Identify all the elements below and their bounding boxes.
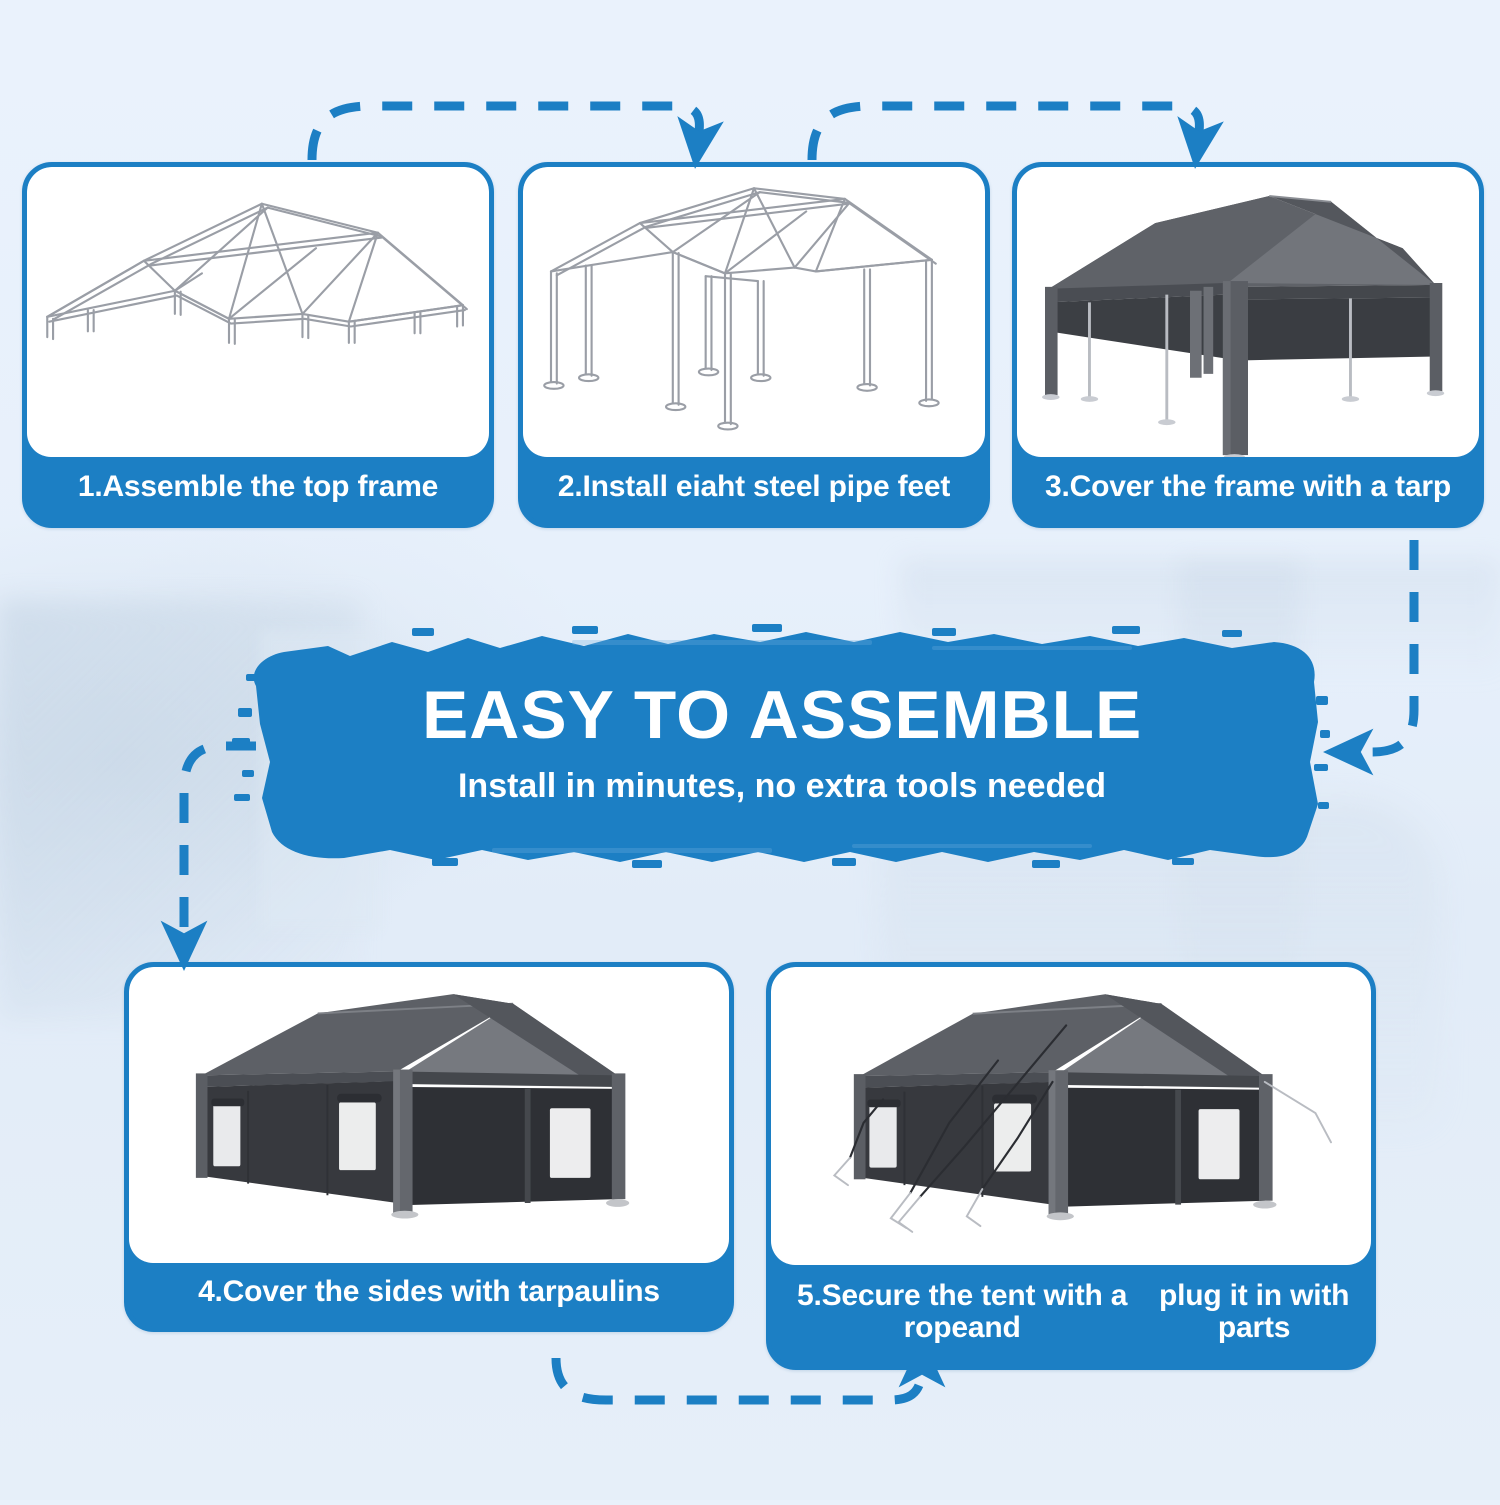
step-card-1[interactable]: 1.Assemble the top frame: [22, 162, 494, 528]
step-card-4[interactable]: 4.Cover the sides with tarpaulins: [124, 962, 734, 1332]
step-1-caption: 1.Assemble the top frame: [27, 457, 489, 523]
step-5-illustration: [771, 967, 1371, 1265]
carport-with-guy-ropes-icon: [771, 967, 1371, 1265]
step-2-illustration: [523, 167, 985, 457]
step-3-illustration: [1017, 167, 1479, 457]
step-5-caption: 5.Secure the tent with a ropeand plug it…: [771, 1265, 1371, 1365]
step-card-3[interactable]: 3.Cover the frame with a tarp: [1012, 162, 1484, 528]
canopy-with-roof-tarp-icon: [1017, 167, 1479, 457]
step-3-caption: 3.Cover the frame with a tarp: [1017, 457, 1479, 523]
step-1-illustration: [27, 167, 489, 457]
step-5-caption-text-2: plug it in with parts: [1145, 1280, 1363, 1345]
step-2-caption: 2.Install eiaht steel pipe feet: [523, 457, 985, 523]
step-4-illustration: [129, 967, 729, 1263]
easy-to-assemble-banner: EASY TO ASSEMBLE Install in minutes, no …: [232, 612, 1332, 874]
banner-subtitle: Install in minutes, no extra tools neede…: [458, 767, 1106, 806]
step-card-2[interactable]: 2.Install eiaht steel pipe feet: [518, 162, 990, 528]
step-4-caption: 4.Cover the sides with tarpaulins: [129, 1263, 729, 1327]
carport-with-side-walls-icon: [129, 967, 729, 1263]
step-card-5[interactable]: 5.Secure the tent with a ropeand plug it…: [766, 962, 1376, 1370]
frame-with-legs-wireframe-icon: [523, 167, 985, 457]
step-5-caption-text: 5.Secure the tent with a ropeand: [779, 1280, 1145, 1345]
banner-title: EASY TO ASSEMBLE: [422, 681, 1142, 749]
top-frame-wireframe-icon: [27, 167, 489, 457]
